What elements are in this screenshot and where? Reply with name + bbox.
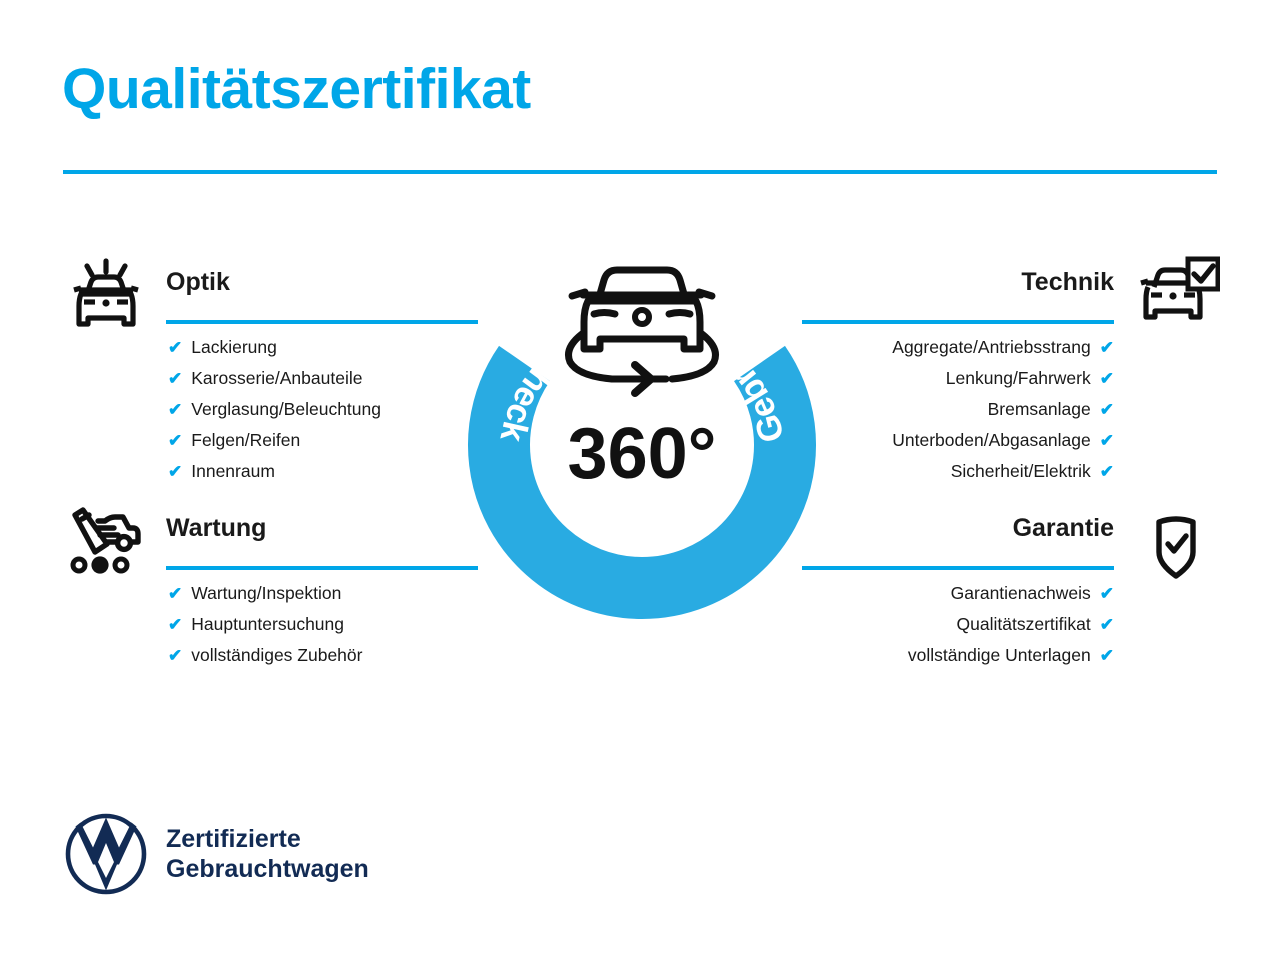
check-icon: ✔ xyxy=(168,457,182,487)
list-item-label: Garantienachweis xyxy=(951,578,1091,608)
checklist-wartung: ✔Wartung/Inspektion ✔Hauptuntersuchung ✔… xyxy=(58,570,518,671)
badge-center-value: 360° xyxy=(568,414,717,494)
section-wartung: Wartung ✔Wartung/Inspektion ✔Hauptunters… xyxy=(58,508,518,671)
section-divider-garantie xyxy=(802,566,1114,570)
list-item-label: Verglasung/Beleuchtung xyxy=(191,394,381,424)
list-item: ✔vollständiges Zubehör xyxy=(168,640,518,671)
check-icon: ✔ xyxy=(1100,641,1114,671)
check-icon: ✔ xyxy=(1100,395,1114,425)
list-item-label: Qualitätszertifikat xyxy=(957,609,1091,639)
check-icon: ✔ xyxy=(1100,457,1114,487)
list-item-label: Hauptuntersuchung xyxy=(191,609,344,639)
list-item-label: Wartung/Inspektion xyxy=(191,578,341,608)
footer-brand-line2: Gebrauchtwagen xyxy=(166,854,369,884)
check-icon: ✔ xyxy=(168,641,182,671)
footer-brand-line1: Zertifizierte xyxy=(166,824,369,854)
list-item-label: Felgen/Reifen xyxy=(191,425,300,455)
list-item-label: vollständige Unterlagen xyxy=(908,640,1091,670)
badge-360-gebrauchtwagen-check: Gebrauchtwagen-Check 360° xyxy=(452,248,832,640)
check-icon: ✔ xyxy=(168,579,182,609)
check-icon: ✔ xyxy=(168,333,182,363)
footer-brand-text: Zertifizierte Gebrauchtwagen xyxy=(166,824,369,884)
check-icon: ✔ xyxy=(1100,610,1114,640)
check-icon: ✔ xyxy=(1100,333,1114,363)
list-item-label: vollständiges Zubehör xyxy=(191,640,362,670)
list-item-label: Lackierung xyxy=(191,332,277,362)
volkswagen-logo xyxy=(64,812,148,896)
list-item-label: Lenkung/Fahrwerk xyxy=(946,363,1091,393)
check-icon: ✔ xyxy=(168,395,182,425)
section-divider-wartung xyxy=(166,566,478,570)
section-divider-technik xyxy=(802,320,1114,324)
list-item-label: Sicherheit/Elektrik xyxy=(951,456,1091,486)
list-item: vollständige Unterlagen✔ xyxy=(762,640,1114,671)
list-item-label: Unterboden/Abgasanlage xyxy=(892,425,1091,455)
checklist-optik: ✔Lackierung ✔Karosserie/Anbauteile ✔Verg… xyxy=(58,324,518,487)
title-divider xyxy=(63,170,1217,174)
list-item-label: Innenraum xyxy=(191,456,275,486)
check-icon: ✔ xyxy=(1100,426,1114,456)
section-head-optik: Optik xyxy=(58,262,518,324)
list-item-label: Aggregate/Antriebsstrang xyxy=(892,332,1090,362)
list-item-label: Bremsanlage xyxy=(988,394,1091,424)
section-head-wartung: Wartung xyxy=(58,508,518,570)
check-icon: ✔ xyxy=(168,364,182,394)
check-icon: ✔ xyxy=(168,610,182,640)
section-optik: Optik ✔Lackierung ✔Karosserie/Anbauteile… xyxy=(58,262,518,487)
list-item-label: Karosserie/Anbauteile xyxy=(191,363,362,393)
page-title: Qualitätszertifikat xyxy=(62,58,531,121)
check-icon: ✔ xyxy=(1100,364,1114,394)
check-icon: ✔ xyxy=(1100,579,1114,609)
section-divider-optik xyxy=(166,320,478,324)
check-icon: ✔ xyxy=(168,426,182,456)
